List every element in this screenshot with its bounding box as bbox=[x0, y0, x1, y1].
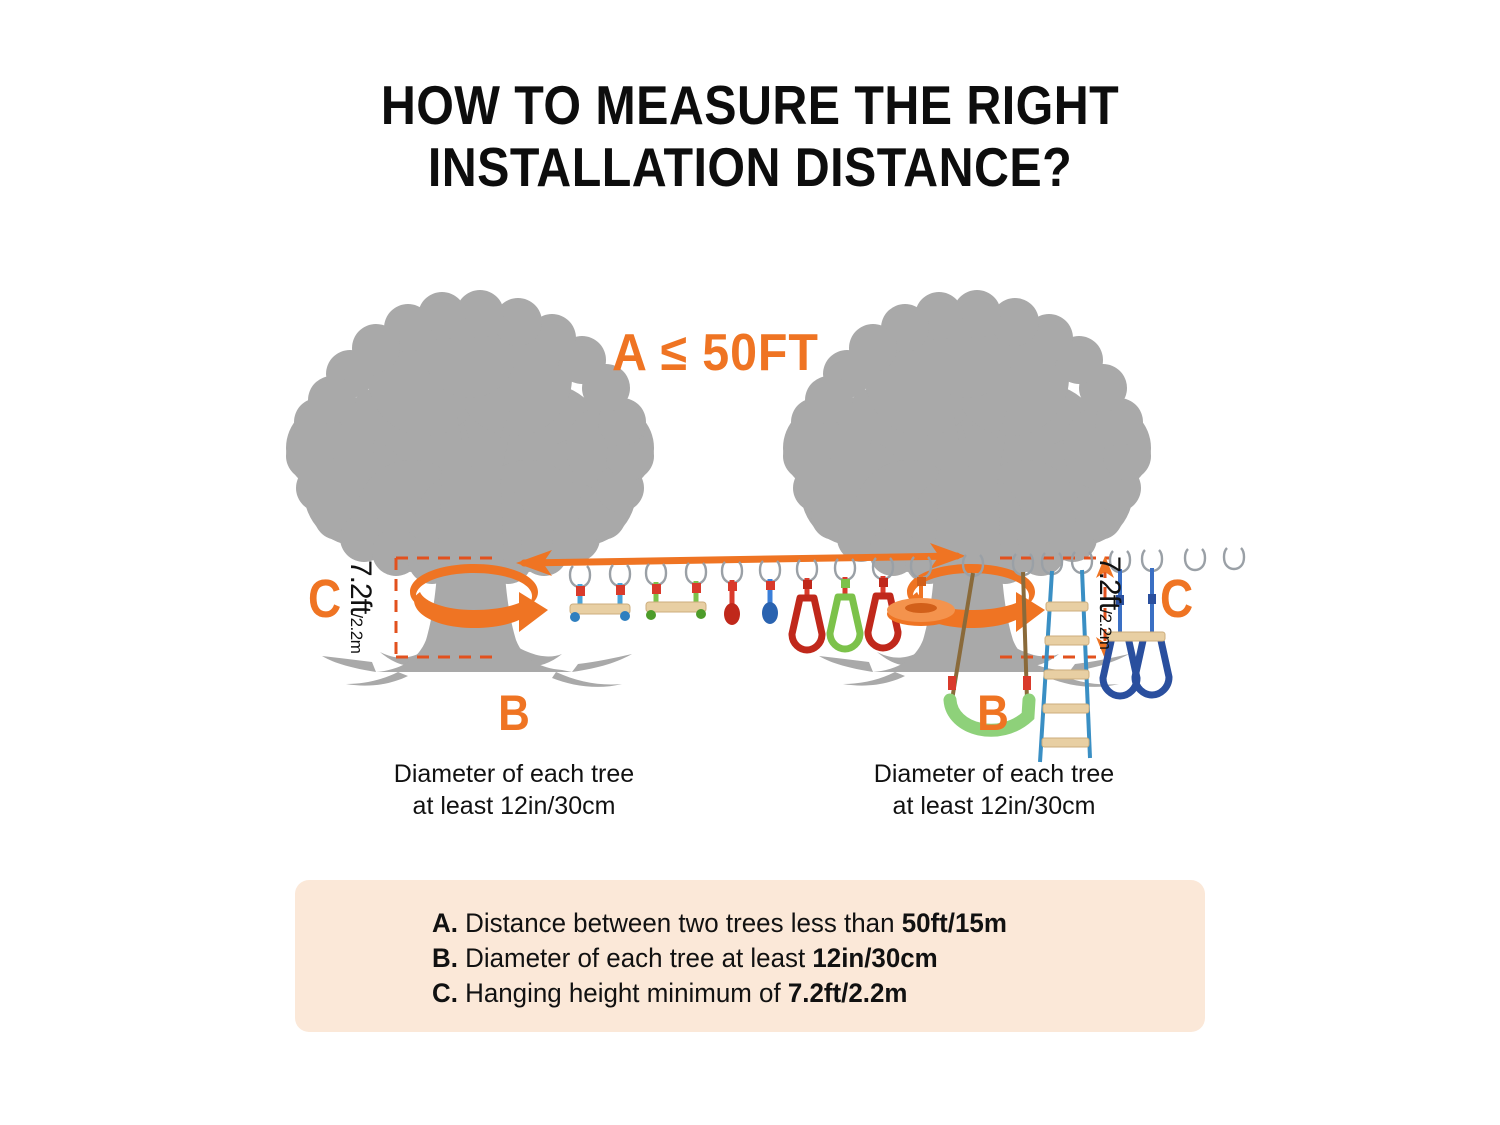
height-metric-right: /2.2m bbox=[1096, 609, 1115, 649]
label-b-right: B bbox=[958, 688, 1028, 738]
requirement-value-b: 12in/30cm bbox=[812, 943, 937, 973]
requirement-key-c: C. bbox=[432, 978, 458, 1008]
obstacle-gym-ring-green bbox=[830, 559, 860, 649]
height-metric-left: /2.2m bbox=[347, 613, 366, 653]
requirements-panel: A. Distance between two trees less than … bbox=[295, 880, 1205, 1032]
height-dimension-left: 7.2ft/2.2m bbox=[343, 560, 377, 653]
title-line-1: HOW TO MEASURE THE RIGHT bbox=[90, 74, 1410, 136]
requirement-value-a: 50ft/15m bbox=[902, 908, 1007, 938]
tree-left bbox=[286, 290, 654, 687]
page-title: HOW TO MEASURE THE RIGHT INSTALLATION DI… bbox=[0, 74, 1500, 198]
dimension-box-left bbox=[396, 558, 500, 657]
requirement-row-b: B. Diameter of each tree at least 12in/3… bbox=[432, 941, 1007, 976]
obstacle-course bbox=[570, 548, 1244, 762]
label-c-left: C bbox=[308, 572, 341, 626]
obstacle-monkey-bar-green bbox=[646, 563, 706, 620]
obstacle-rope-ladder bbox=[1040, 552, 1092, 762]
label-b-left: B bbox=[479, 688, 549, 738]
requirement-text-a: Distance between two trees less than bbox=[465, 908, 894, 938]
diameter-ring-left bbox=[410, 564, 548, 632]
obstacle-monkey-bar-blue bbox=[570, 565, 630, 622]
obstacle-disc-swing bbox=[887, 557, 955, 626]
requirement-value-c: 7.2ft/2.2m bbox=[788, 978, 908, 1008]
tree-caption-right: Diameter of each tree at least 12in/30cm bbox=[814, 758, 1174, 822]
requirement-text-c: Hanging height minimum of bbox=[465, 978, 781, 1008]
spare-carabiners bbox=[1185, 548, 1244, 570]
title-line-2: INSTALLATION DISTANCE? bbox=[90, 136, 1410, 198]
slackline-arrow-right bbox=[930, 543, 966, 569]
distance-label-a: A ≤ 50FT bbox=[612, 325, 819, 381]
obstacle-grip-ball-blue bbox=[760, 561, 780, 624]
requirement-key-b: B. bbox=[432, 943, 458, 973]
label-c-right: C bbox=[1160, 572, 1193, 626]
requirement-row-a: A. Distance between two trees less than … bbox=[432, 906, 1007, 941]
obstacle-grip-ball-red bbox=[722, 562, 742, 625]
slackline bbox=[516, 543, 966, 576]
requirement-row-c: C. Hanging height minimum of 7.2ft/2.2m bbox=[432, 976, 1007, 1011]
tree-caption-left-line1: Diameter of each tree bbox=[334, 758, 694, 790]
obstacle-gym-ring-red-2 bbox=[868, 558, 898, 648]
obstacle-gym-ring-red-1 bbox=[792, 560, 822, 650]
height-dimension-right: 7.2ft/2.2m bbox=[1092, 556, 1126, 649]
diameter-ring-right bbox=[907, 564, 1045, 632]
requirement-text-b: Diameter of each tree at least bbox=[465, 943, 805, 973]
requirement-key-a: A. bbox=[432, 908, 458, 938]
height-value-left: 7.2ft bbox=[344, 560, 377, 613]
height-value-right: 7.2ft bbox=[1093, 556, 1126, 609]
slackline-arrow-left bbox=[516, 550, 552, 576]
tree-caption-left-line2: at least 12in/30cm bbox=[334, 790, 694, 822]
requirements-list: A. Distance between two trees less than … bbox=[432, 906, 1031, 1011]
tree-caption-right-line1: Diameter of each tree bbox=[814, 758, 1174, 790]
tree-caption-left: Diameter of each tree at least 12in/30cm bbox=[334, 758, 694, 822]
tree-caption-right-line2: at least 12in/30cm bbox=[814, 790, 1174, 822]
